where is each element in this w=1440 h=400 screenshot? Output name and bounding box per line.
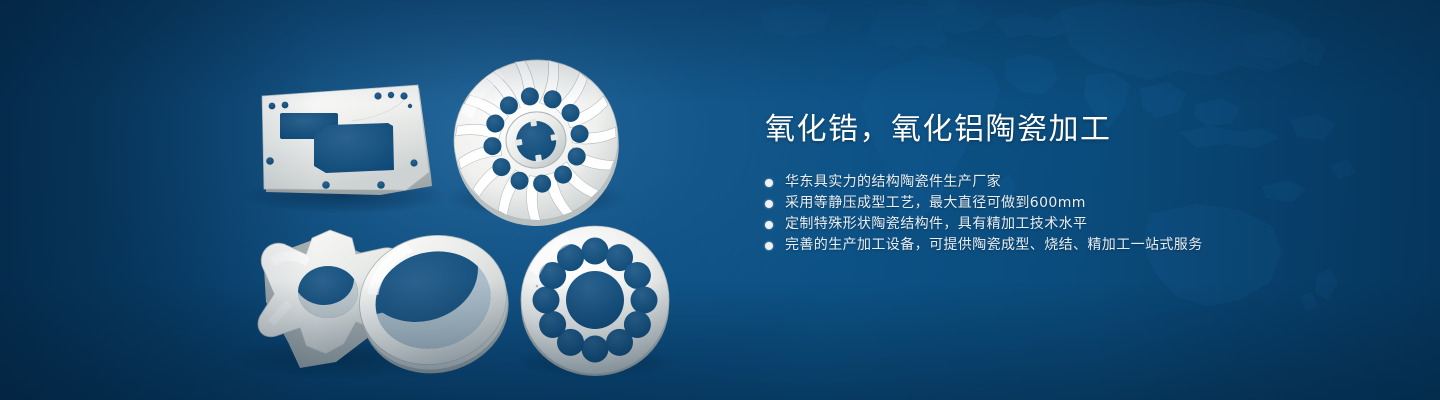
plate-hole [408,104,412,108]
list-item-label: 定制特殊形状陶瓷结构件，具有精加工技术水平 [785,214,1087,235]
plate-hole [282,102,289,109]
bullet-dot-icon [765,242,773,250]
list-item: 采用等静压成型工艺，最大直径可做到600mm [765,193,1385,214]
plate-cutout-main [314,123,394,173]
list-item-label: 采用等静压成型工艺，最大直径可做到600mm [785,193,1086,214]
feature-list: 华东具实力的结构陶瓷件生产厂家 采用等静压成型工艺，最大直径可做到600mm 定… [765,172,1385,256]
page-title: 氧化锆，氧化铝陶瓷加工 [765,110,1385,150]
plate-hole [266,157,274,165]
plate-hole [374,92,381,99]
disc-center-bore [566,271,624,329]
plate-hole [377,181,385,189]
list-item: 完善的生产加工设备，可提供陶瓷成型、烧结、精加工一站式服务 [765,235,1385,256]
plate-hole [388,92,394,98]
ceramic-perforated-disc [521,226,669,376]
bullet-dot-icon [765,200,773,208]
list-item-label: 华东具实力的结构陶瓷件生产厂家 [785,172,1001,193]
list-item-label: 完善的生产加工设备，可提供陶瓷成型、烧结、精加工一站式服务 [785,235,1203,256]
plate-hole [400,92,407,99]
bullet-dot-icon [765,221,773,229]
list-item: 定制特殊形状陶瓷结构件，具有精加工技术水平 [765,214,1385,235]
plate-hole [269,103,276,110]
plate-hole [322,181,330,189]
plate-hole [410,159,417,166]
list-item: 华东具实力的结构陶瓷件生产厂家 [765,172,1385,193]
banner-copy: 氧化锆，氧化铝陶瓷加工 华东具实力的结构陶瓷件生产厂家 采用等静压成型工艺，最大… [765,110,1385,256]
bullet-dot-icon [765,179,773,187]
ceramic-plate [262,85,432,195]
promo-banner: 氧化锆，氧化铝陶瓷加工 华东具实力的结构陶瓷件生产厂家 采用等静压成型工艺，最大… [0,0,1440,400]
ceramic-products-image [0,0,740,400]
